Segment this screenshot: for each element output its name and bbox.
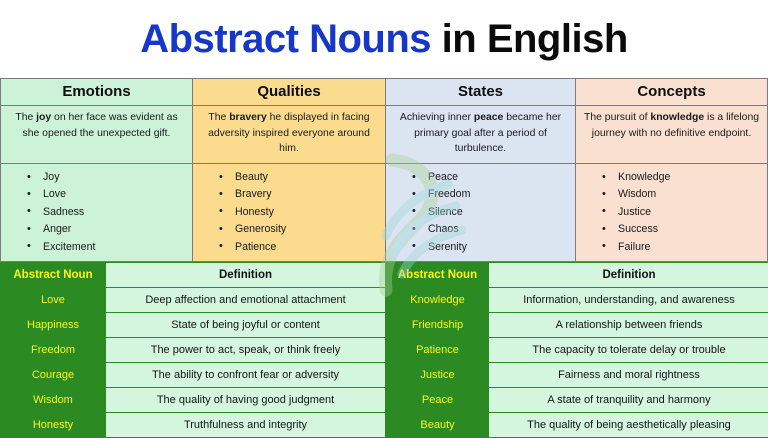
cell-definition: The capacity to tolerate delay or troubl…	[489, 338, 768, 363]
category-header-concepts: Concepts	[576, 79, 767, 106]
table-row: Honesty Truthfulness and integrity	[1, 413, 386, 438]
list-item: Sadness	[27, 204, 190, 221]
list-item: Knowledge	[602, 169, 765, 186]
table-row: Courage The ability to confront fear or …	[1, 363, 386, 388]
column-header-abstract-noun: Abstract Noun	[387, 263, 489, 288]
page-title-rest: in English	[442, 19, 628, 59]
table-row: Friendship A relationship between friend…	[387, 313, 768, 338]
cell-definition: Truthfulness and integrity	[106, 413, 386, 438]
list-item: Wisdom	[602, 186, 765, 203]
category-list-qualities: Beauty Bravery Honesty Generosity Patien…	[193, 164, 385, 261]
cell-definition: The quality of having good judgment	[106, 388, 386, 413]
list-item: Silence	[412, 204, 573, 221]
list-item: Generosity	[219, 221, 383, 238]
cell-definition: A relationship between friends	[489, 313, 768, 338]
table-row: Justice Fairness and moral rightness	[387, 363, 768, 388]
page-title: Abstract Nouns in English	[0, 0, 768, 78]
cell-noun: Wisdom	[1, 388, 106, 413]
cell-noun: Beauty	[387, 413, 489, 438]
cell-definition: Deep affection and emotional attachment	[106, 288, 386, 313]
cell-noun: Love	[1, 288, 106, 313]
list-item: Peace	[412, 169, 573, 186]
list-item: Success	[602, 221, 765, 238]
category-example-qualities: The bravery he displayed in facing adver…	[193, 106, 385, 164]
page-title-accent: Abstract Nouns	[140, 19, 441, 59]
table-header-row: Abstract Noun Definition	[1, 263, 386, 288]
cell-definition: State of being joyful or content	[106, 313, 386, 338]
list-item: Justice	[602, 204, 765, 221]
list-item: Excitement	[27, 239, 190, 256]
table-row: Happiness State of being joyful or conte…	[1, 313, 386, 338]
cell-definition: A state of tranquility and harmony	[489, 388, 768, 413]
cell-definition: The ability to confront fear or adversit…	[106, 363, 386, 388]
list-item: Beauty	[219, 169, 383, 186]
example-pre: Achieving inner	[400, 112, 474, 123]
table-row: Knowledge Information, understanding, an…	[387, 288, 768, 313]
table-row: Freedom The power to act, speak, or thin…	[1, 338, 386, 363]
example-keyword: bravery	[229, 112, 267, 123]
column-header-definition: Definition	[106, 263, 386, 288]
table-row: Beauty The quality of being aestheticall…	[387, 413, 768, 438]
cell-noun: Courage	[1, 363, 106, 388]
cell-noun: Freedom	[1, 338, 106, 363]
category-list-emotions: Joy Love Sadness Anger Excitement	[1, 164, 192, 261]
list-item: Honesty	[219, 204, 383, 221]
category-list-concepts: Knowledge Wisdom Justice Success Failure	[576, 164, 767, 261]
list-item: Freedom	[412, 186, 573, 203]
category-card-qualities: Qualities The bravery he displayed in fa…	[192, 78, 385, 262]
column-header-definition: Definition	[489, 263, 768, 288]
example-pre: The	[208, 112, 229, 123]
category-example-states: Achieving inner peace became her primary…	[386, 106, 575, 164]
list-item: Bravery	[219, 186, 383, 203]
list-item: Patience	[219, 239, 383, 256]
example-keyword: knowledge	[650, 112, 704, 123]
cell-definition: Fairness and moral rightness	[489, 363, 768, 388]
list-item: Love	[27, 186, 190, 203]
category-header-states: States	[386, 79, 575, 106]
cell-noun: Happiness	[1, 313, 106, 338]
abstract-noun-table-left: Abstract Noun Definition Love Deep affec…	[0, 262, 386, 438]
table-row: Wisdom The quality of having good judgme…	[1, 388, 386, 413]
cell-noun: Honesty	[1, 413, 106, 438]
category-grid: Emotions The joy on her face was evident…	[0, 78, 768, 262]
category-header-emotions: Emotions	[1, 79, 192, 106]
category-example-concepts: The pursuit of knowledge is a lifelong j…	[576, 106, 767, 164]
table-header-row: Abstract Noun Definition	[387, 263, 768, 288]
list-item: Anger	[27, 221, 190, 238]
example-keyword: peace	[474, 112, 503, 123]
list-item: Failure	[602, 239, 765, 256]
list-item: Serenity	[412, 239, 573, 256]
cell-definition: Information, understanding, and awarenes…	[489, 288, 768, 313]
example-pre: The pursuit of	[584, 112, 650, 123]
cell-definition: The quality of being aesthetically pleas…	[489, 413, 768, 438]
category-header-qualities: Qualities	[193, 79, 385, 106]
table-row: Peace A state of tranquility and harmony	[387, 388, 768, 413]
cell-definition: The power to act, speak, or think freely	[106, 338, 386, 363]
list-item: Joy	[27, 169, 190, 186]
example-pre: The	[15, 112, 36, 123]
cell-noun: Friendship	[387, 313, 489, 338]
category-example-emotions: The joy on her face was evident as she o…	[1, 106, 192, 164]
column-header-abstract-noun: Abstract Noun	[1, 263, 106, 288]
cell-noun: Justice	[387, 363, 489, 388]
category-card-emotions: Emotions The joy on her face was evident…	[0, 78, 192, 262]
category-card-states: States Achieving inner peace became her …	[385, 78, 575, 262]
list-item: Chaos	[412, 221, 573, 238]
category-card-concepts: Concepts The pursuit of knowledge is a l…	[575, 78, 768, 262]
table-row: Love Deep affection and emotional attach…	[1, 288, 386, 313]
cell-noun: Knowledge	[387, 288, 489, 313]
tables-area: Abstract Noun Definition Love Deep affec…	[0, 262, 768, 438]
cell-noun: Patience	[387, 338, 489, 363]
abstract-noun-table-right: Abstract Noun Definition Knowledge Infor…	[386, 262, 768, 438]
cell-noun: Peace	[387, 388, 489, 413]
example-keyword: joy	[36, 112, 51, 123]
category-list-states: Peace Freedom Silence Chaos Serenity	[386, 164, 575, 261]
table-row: Patience The capacity to tolerate delay …	[387, 338, 768, 363]
